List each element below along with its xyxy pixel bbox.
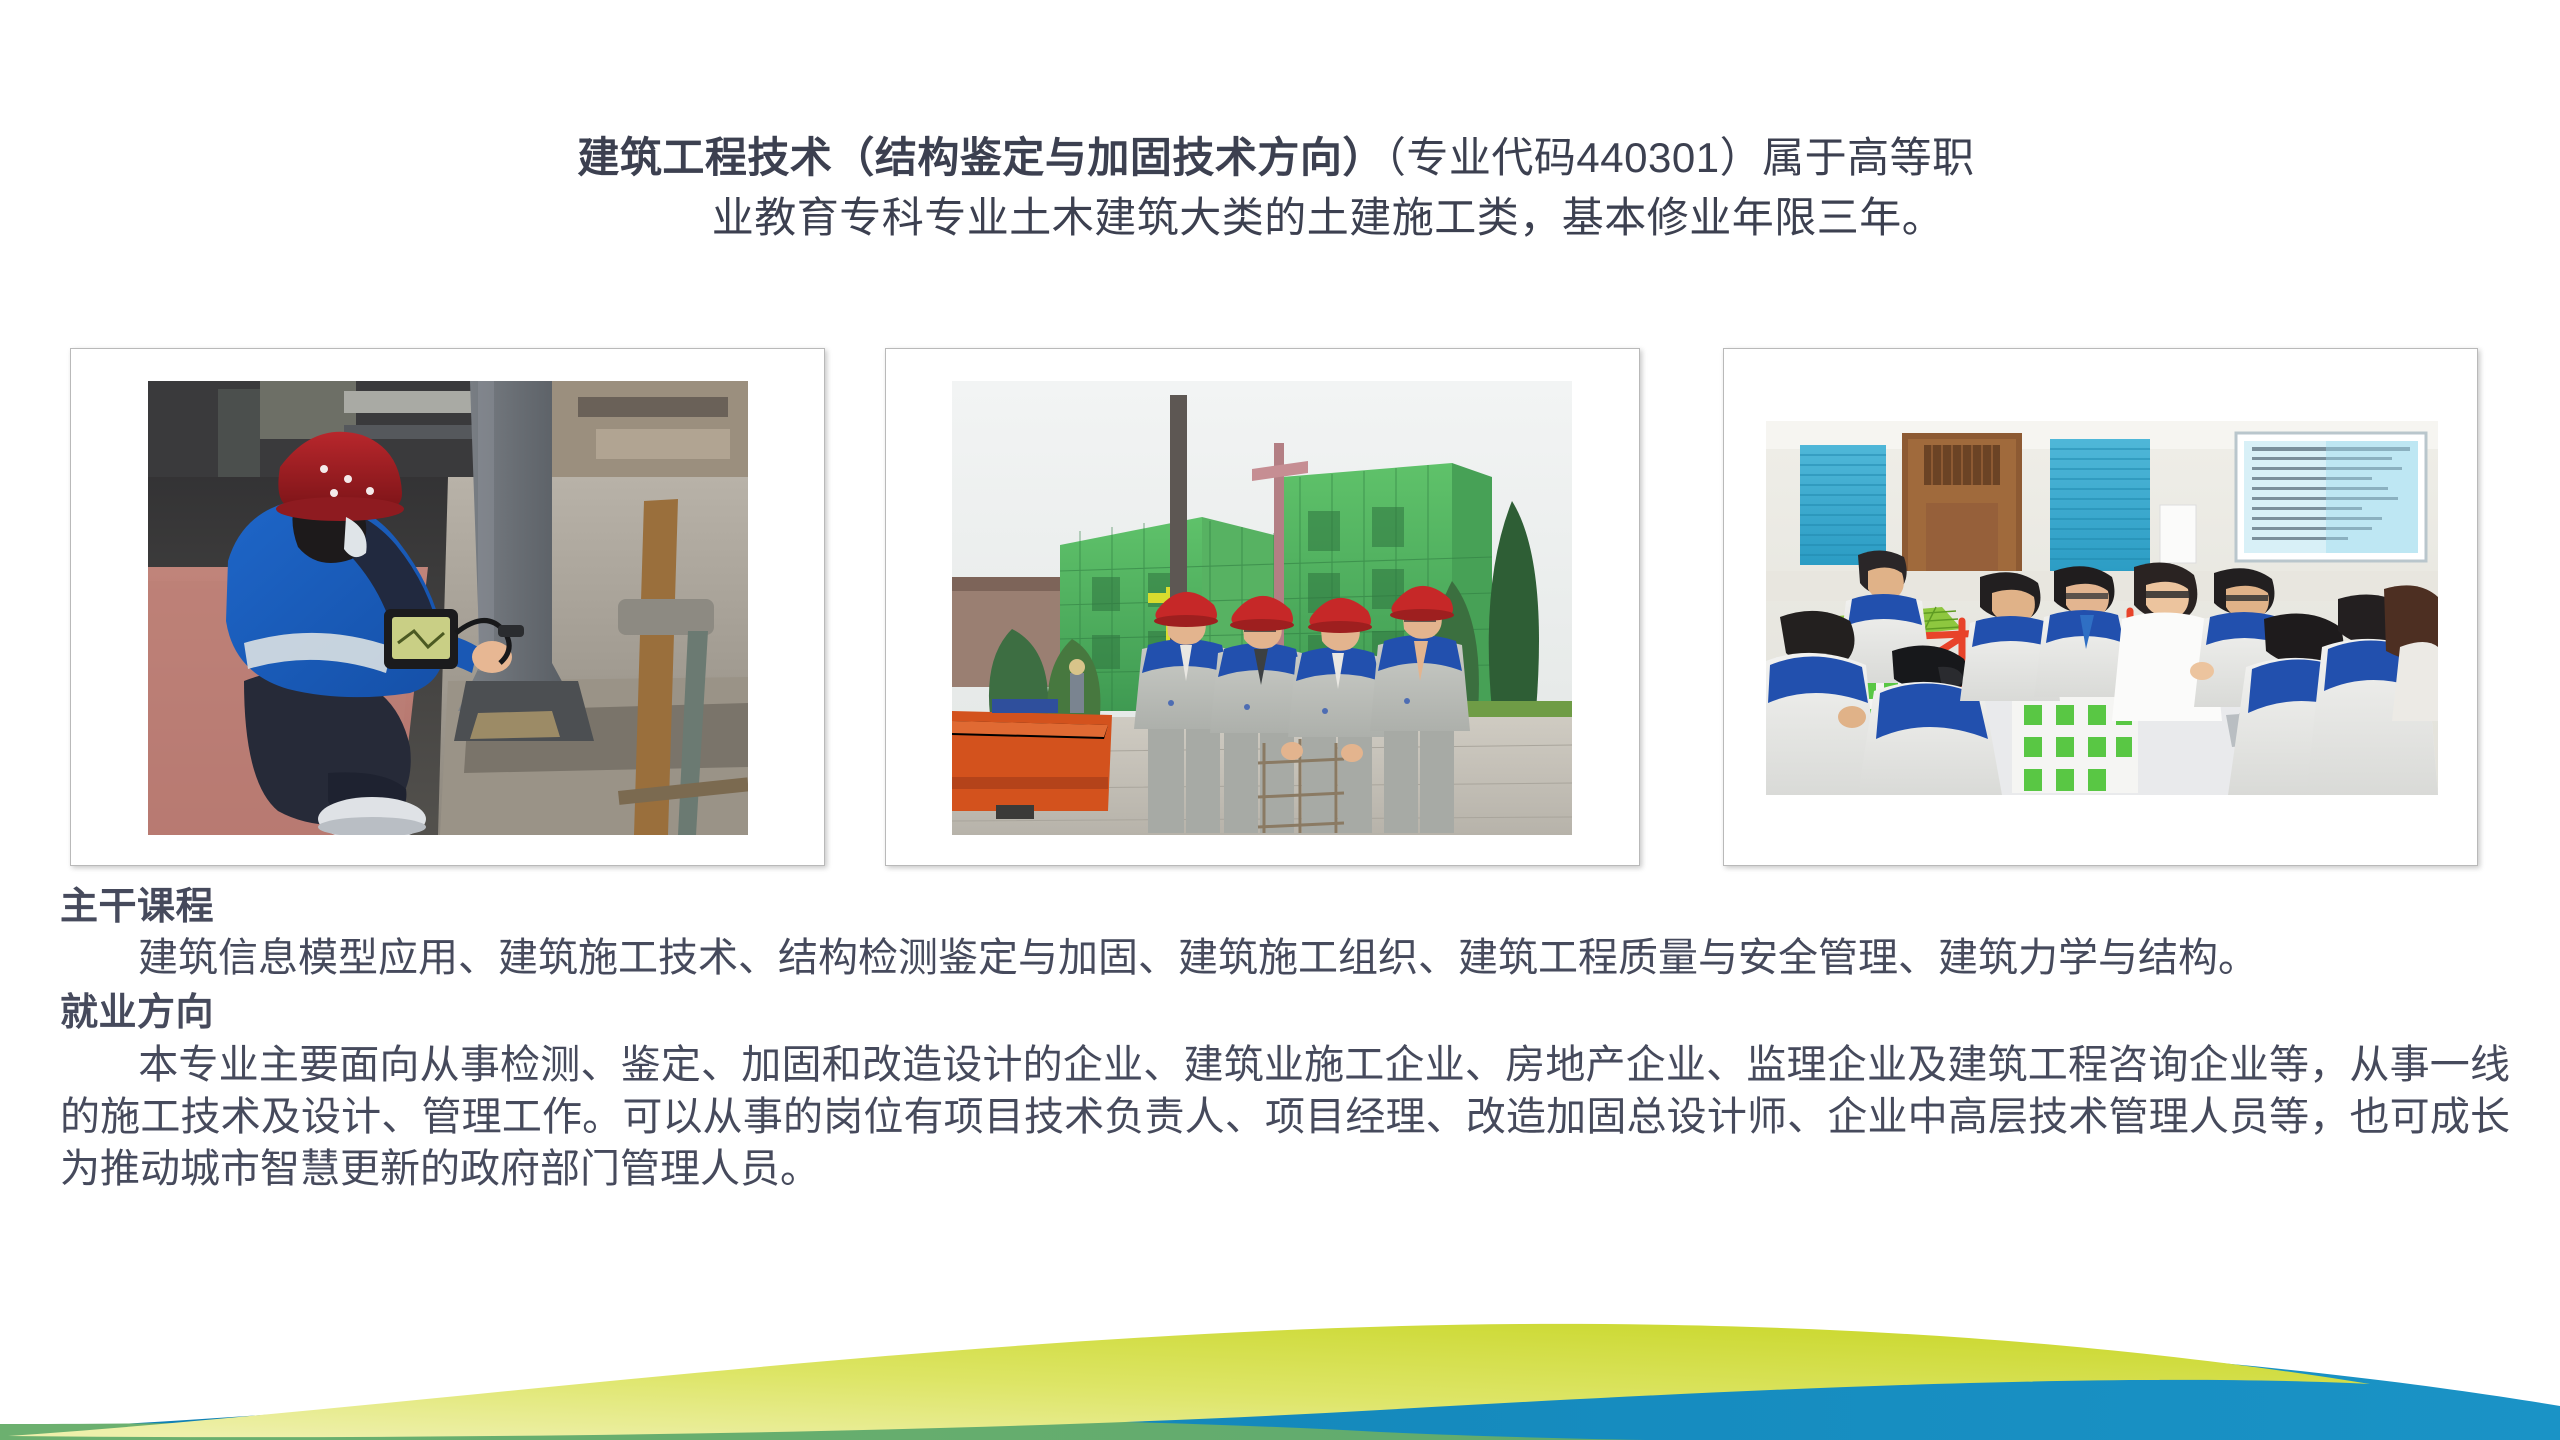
title-strong-text: 建筑工程技术（结构鉴定与加固技术方向）: [577, 134, 1385, 181]
wave-green-layer: [0, 1418, 2560, 1440]
section-heading-job: 就业方向: [60, 990, 2510, 1036]
wave-blue-layer: [0, 1337, 2560, 1440]
bottom-wave-decoration: [0, 1280, 2560, 1440]
page-title: 建筑工程技术（结构鉴定与加固技术方向）（专业代码440301）属于高等职 业教育…: [300, 128, 2260, 247]
section-course: 主干课程 建筑信息模型应用、建筑施工技术、结构检测鉴定与加固、建筑施工组织、建筑…: [60, 884, 2510, 984]
section-body-course: 建筑信息模型应用、建筑施工技术、结构检测鉴定与加固、建筑施工组织、建筑工程质量与…: [60, 932, 2510, 984]
photo-row: [0, 348, 2560, 868]
title-line-2: 业教育专科专业土木建筑大类的土建施工类，基本修业年限三年。: [396, 188, 2260, 248]
section-job: 就业方向 本专业主要面向从事检测、鉴定、加固和改造设计的企业、建筑业施工企业、房…: [60, 990, 2510, 1194]
structural-inspection-photo: [148, 381, 748, 835]
section-heading-course: 主干课程: [60, 884, 2510, 930]
section-body-job-text: 本专业主要面向从事检测、鉴定、加固和改造设计的企业、建筑业施工企业、房地产企业、…: [60, 1043, 2510, 1191]
construction-site-students-photo: [952, 381, 1572, 835]
body-text: 主干课程 建筑信息模型应用、建筑施工技术、结构检测鉴定与加固、建筑施工组织、建筑…: [60, 884, 2510, 1195]
wave-leaf-layer: [8, 1324, 2370, 1437]
section-body-course-text: 建筑信息模型应用、建筑施工技术、结构检测鉴定与加固、建筑施工组织、建筑工程质量与…: [138, 936, 2258, 980]
photo-frame-1[interactable]: [70, 348, 825, 866]
title-line-1: 建筑工程技术（结构鉴定与加固技术方向）（专业代码440301）属于高等职: [292, 128, 2260, 188]
photo-frame-2[interactable]: [885, 348, 1640, 866]
section-body-job: 本专业主要面向从事检测、鉴定、加固和改造设计的企业、建筑业施工企业、房地产企业、…: [60, 1039, 2510, 1195]
classroom-model-training-photo: [1766, 421, 2438, 795]
photo-frame-3[interactable]: [1723, 348, 2478, 866]
title-normal-text: （专业代码440301）属于高等职: [1385, 134, 1975, 181]
slide-root: 建筑工程技术（结构鉴定与加固技术方向）（专业代码440301）属于高等职 业教育…: [0, 0, 2560, 1440]
